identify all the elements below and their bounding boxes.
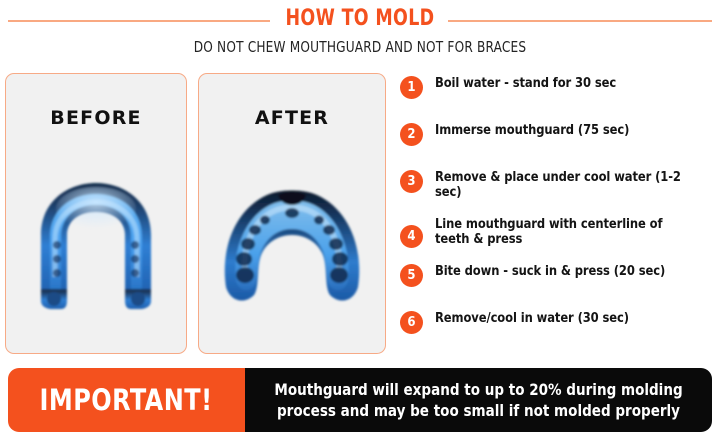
page-title: HOW TO MOLD bbox=[43, 6, 677, 31]
step-item-4: 4 Line mouthguard with centerline of tee… bbox=[398, 217, 718, 247]
important-message: Mouthguard will expand to up to 20% duri… bbox=[259, 379, 698, 421]
step-number-badge-1: 1 bbox=[400, 76, 423, 99]
important-label: IMPORTANT! bbox=[40, 383, 213, 417]
step-number-badge-2: 2 bbox=[400, 123, 423, 146]
step-number-badge-6: 6 bbox=[400, 311, 423, 334]
panel-after-label: AFTER bbox=[199, 107, 385, 129]
step-text-1: Boil water - stand for 30 sec bbox=[435, 76, 706, 91]
how-to-mold-infographic: HOW TO MOLD DO NOT CHEW MOUTHGUARD AND N… bbox=[0, 0, 720, 438]
step-text-6: Remove/cool in water (30 sec) bbox=[435, 311, 706, 326]
panel-before: BEFORE bbox=[5, 73, 187, 354]
step-item-1: 1 Boil water - stand for 30 sec bbox=[398, 76, 718, 106]
mouthguard-before-image bbox=[6, 144, 186, 344]
step-item-6: 6 Remove/cool in water (30 sec) bbox=[398, 311, 718, 341]
step-text-5: Bite down - suck in & press (20 sec) bbox=[435, 264, 706, 279]
step-text-3: Remove & place under cool water (1-2 sec… bbox=[435, 170, 706, 200]
step-item-5: 5 Bite down - suck in & press (20 sec) bbox=[398, 264, 718, 294]
step-number-badge-3: 3 bbox=[400, 170, 423, 193]
panel-before-label: BEFORE bbox=[6, 107, 186, 129]
mouthguard-unmolded-icon bbox=[21, 169, 171, 319]
mouthguard-molded-icon bbox=[212, 169, 372, 319]
step-number-badge-5: 5 bbox=[400, 264, 423, 287]
step-text-4: Line mouthguard with centerline of teeth… bbox=[435, 217, 663, 247]
important-message-block: Mouthguard will expand to up to 20% duri… bbox=[245, 368, 712, 432]
step-text-2: Immerse mouthguard (75 sec) bbox=[435, 123, 706, 138]
page-subtitle: DO NOT CHEW MOUTHGUARD AND NOT FOR BRACE… bbox=[36, 38, 684, 56]
panel-after: AFTER bbox=[198, 73, 386, 354]
mouthguard-after-image bbox=[199, 144, 385, 344]
step-item-2: 2 Immerse mouthguard (75 sec) bbox=[398, 123, 718, 153]
header: HOW TO MOLD bbox=[0, 0, 720, 34]
step-number-badge-4: 4 bbox=[400, 225, 423, 248]
important-banner: IMPORTANT! Mouthguard will expand to up … bbox=[8, 368, 712, 432]
important-label-block: IMPORTANT! bbox=[8, 368, 245, 432]
step-item-3: 3 Remove & place under cool water (1-2 s… bbox=[398, 170, 718, 200]
